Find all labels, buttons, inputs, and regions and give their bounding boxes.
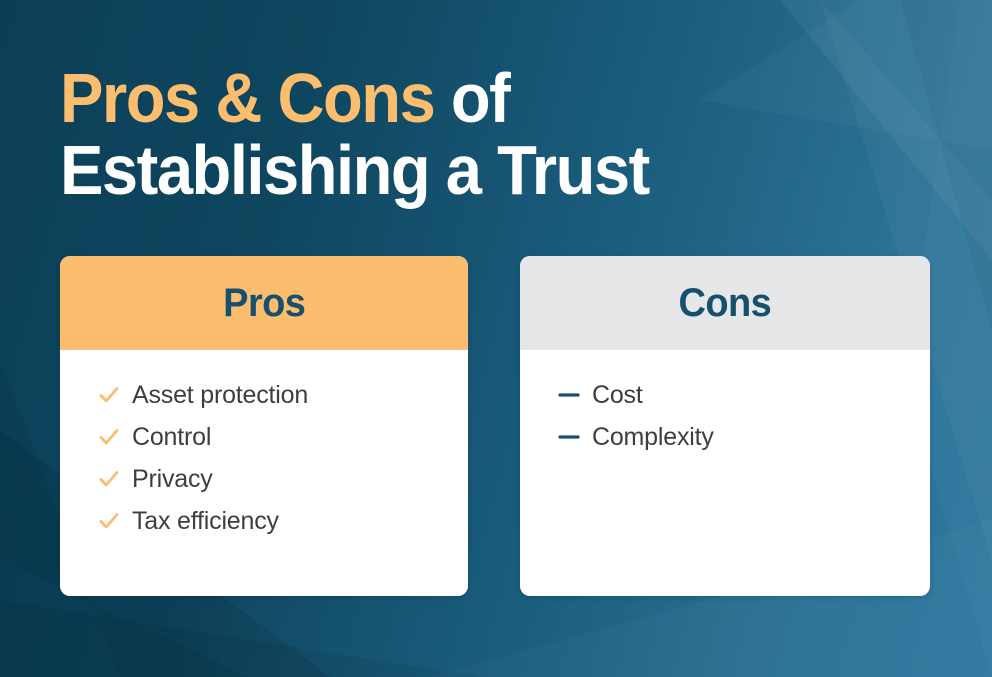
list-item: Complexity: [558, 416, 930, 458]
cons-item-list: Cost Complexity: [558, 374, 930, 458]
list-item: Asset protection: [98, 374, 468, 416]
title-accent-text: Pros & Cons: [60, 59, 434, 137]
check-icon: [98, 468, 132, 490]
cons-item-label: Cost: [592, 381, 643, 410]
pros-card: Pros Asset protection: [60, 256, 468, 596]
cons-card-header: Cons: [520, 256, 930, 350]
pros-item-list: Asset protection Control: [98, 374, 468, 542]
pros-item-label: Privacy: [132, 465, 213, 494]
pros-item-label: Tax efficiency: [132, 507, 279, 536]
dash-icon: [558, 426, 592, 448]
cons-header-title: Cons: [679, 281, 772, 326]
check-icon: [98, 510, 132, 532]
check-icon: [98, 426, 132, 448]
list-item: Control: [98, 416, 468, 458]
list-item: Cost: [558, 374, 930, 416]
pros-card-header: Pros: [60, 256, 468, 350]
cons-item-label: Complexity: [592, 423, 714, 452]
title-line-2: Establishing a Trust: [60, 134, 878, 206]
infographic-canvas: Pros & Cons of Establishing a Trust Pros…: [0, 0, 992, 677]
cons-card-body: Cost Complexity: [520, 350, 930, 458]
pros-item-label: Control: [132, 423, 211, 452]
page-title: Pros & Cons of Establishing a Trust: [60, 62, 940, 206]
title-line-1-rest: of: [434, 59, 509, 137]
pros-item-label: Asset protection: [132, 381, 308, 410]
cons-card: Cons Cost: [520, 256, 930, 596]
pros-header-title: Pros: [223, 281, 305, 326]
list-item: Privacy: [98, 458, 468, 500]
check-icon: [98, 384, 132, 406]
dash-icon: [558, 384, 592, 406]
pros-card-body: Asset protection Control: [60, 350, 468, 542]
list-item: Tax efficiency: [98, 500, 468, 542]
title-line-1: Pros & Cons of: [60, 62, 878, 134]
